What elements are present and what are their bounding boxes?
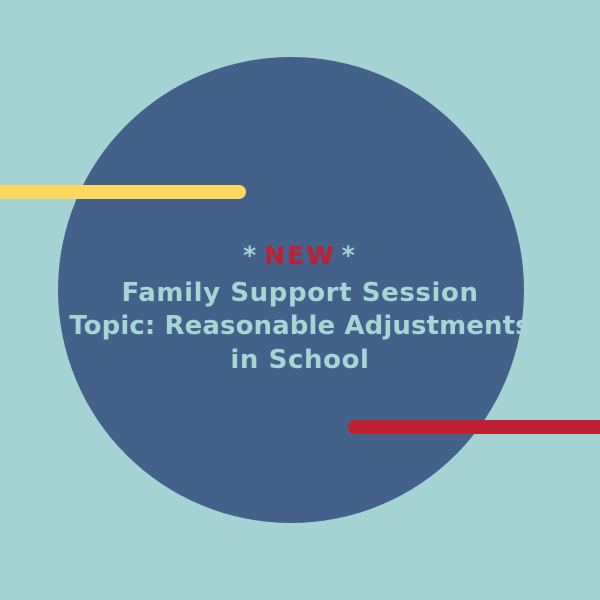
session-topic-line-2: in School	[0, 344, 600, 377]
asterisk-right-icon: *	[336, 241, 363, 270]
red-accent-bar	[348, 420, 600, 434]
new-badge: *NEW*	[0, 240, 600, 272]
asterisk-left-icon: *	[237, 241, 264, 270]
new-keyword: NEW	[264, 241, 336, 270]
yellow-accent-bar	[0, 185, 246, 199]
poster-canvas: *NEW* Family Support Session Topic: Reas…	[0, 0, 600, 600]
session-title: Family Support Session	[0, 277, 600, 310]
announcement-text-block: *NEW* Family Support Session Topic: Reas…	[0, 240, 600, 377]
session-topic-line-1: Topic: Reasonable Adjustments	[0, 310, 600, 343]
